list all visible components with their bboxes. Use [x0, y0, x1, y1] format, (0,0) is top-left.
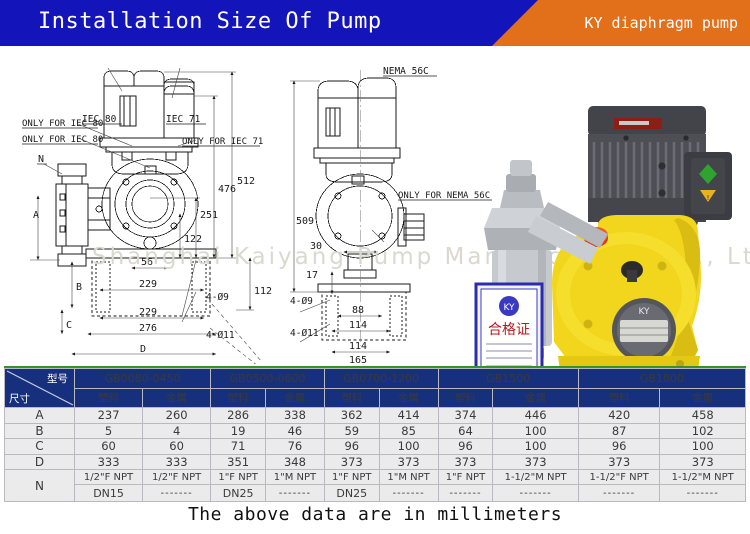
svg-text:88: 88 — [352, 305, 364, 316]
cell-d-9: 373 — [660, 454, 746, 470]
svg-text:165: 165 — [349, 355, 367, 364]
product-photo: ! KY — [448, 98, 740, 398]
cell-d-5: 373 — [379, 454, 438, 470]
cell-b-5: 85 — [379, 423, 438, 439]
svg-text:509: 509 — [296, 216, 314, 227]
cell-n-npt-6: 1"F NPT — [438, 470, 493, 485]
table-row-n-dn: DN15 ------- DN25 ------- DN25 ------- -… — [5, 485, 746, 502]
svg-text:276: 276 — [139, 323, 157, 334]
cell-c-5: 100 — [379, 439, 438, 455]
model-group-2: GB0700-1200 — [324, 369, 438, 389]
cell-a-5: 414 — [379, 408, 438, 424]
cell-n-dn-0: DN15 — [75, 485, 143, 502]
svg-text:112: 112 — [254, 286, 272, 297]
material-1-1: 金属 — [266, 388, 325, 408]
cell-c-3: 76 — [266, 439, 325, 455]
row-label-d: D — [5, 454, 75, 470]
material-0-1: 金属 — [143, 388, 211, 408]
material-2-0: 塑料 — [324, 388, 379, 408]
page-title: Installation Size Of Pump — [38, 9, 382, 34]
cell-c-2: 71 — [211, 439, 266, 455]
cell-n-npt-5: 1"M NPT — [379, 470, 438, 485]
svg-text:NEMA 56C: NEMA 56C — [383, 66, 429, 77]
corner-model-label: 型号 — [47, 371, 68, 386]
model-group-4: GB1800 — [578, 369, 745, 389]
cell-c-8: 96 — [578, 439, 660, 455]
cell-d-2: 351 — [211, 454, 266, 470]
cell-a-2: 286 — [211, 408, 266, 424]
product-spec-page: Installation Size Of Pump KY diaphragm p… — [0, 0, 750, 534]
cell-n-npt-8: 1-1/2"F NPT — [578, 470, 660, 485]
cell-d-4: 373 — [324, 454, 379, 470]
cell-b-7: 100 — [493, 423, 578, 439]
cell-d-7: 373 — [493, 454, 578, 470]
material-3-1: 金属 — [493, 388, 578, 408]
material-1-0: 塑料 — [211, 388, 266, 408]
svg-text:B: B — [76, 282, 82, 293]
cell-n-dn-2: DN25 — [211, 485, 266, 502]
svg-text:ONLY FOR IEC 80: ONLY FOR IEC 80 — [22, 119, 103, 129]
svg-text:IEC 71: IEC 71 — [166, 114, 201, 125]
cell-d-8: 373 — [578, 454, 660, 470]
material-4-0: 塑料 — [578, 388, 660, 408]
cell-d-6: 373 — [438, 454, 493, 470]
cell-c-7: 100 — [493, 439, 578, 455]
cell-n-npt-2: 1"F NPT — [211, 470, 266, 485]
cell-n-npt-1: 1/2"F NPT — [143, 470, 211, 485]
table-row: C 60 60 71 76 96 100 96 100 96 100 — [5, 439, 746, 455]
cell-b-8: 87 — [578, 423, 660, 439]
cell-b-9: 102 — [660, 423, 746, 439]
svg-text:56: 56 — [141, 257, 153, 268]
svg-text:!: ! — [706, 194, 710, 202]
svg-text:114: 114 — [349, 320, 367, 331]
cell-a-7: 446 — [493, 408, 578, 424]
cell-c-9: 100 — [660, 439, 746, 455]
svg-text:合格证: 合格证 — [488, 322, 530, 338]
cell-d-1: 333 — [143, 454, 211, 470]
cell-c-6: 96 — [438, 439, 493, 455]
svg-text:229: 229 — [139, 279, 157, 290]
table-body: A 237 260 286 338 362 414 374 446 420 45… — [5, 408, 746, 502]
material-3-0: 塑料 — [438, 388, 493, 408]
svg-text:A: A — [33, 210, 39, 221]
table-row-n-npt: N 1/2"F NPT 1/2"F NPT 1"F NPT 1"M NPT 1"… — [5, 470, 746, 485]
svg-text:30: 30 — [310, 241, 322, 252]
model-header-row: 型号 尺寸 GB0080-0450 GB0500-0600 GB0700-120… — [5, 369, 746, 389]
cell-n-dn-9: ------- — [660, 485, 746, 502]
cell-b-4: 59 — [324, 423, 379, 439]
row-label-n: N — [5, 470, 75, 502]
svg-text:4-Ø11: 4-Ø11 — [290, 328, 319, 339]
cell-a-1: 260 — [143, 408, 211, 424]
svg-text:D: D — [140, 344, 146, 355]
cell-b-3: 46 — [266, 423, 325, 439]
cell-n-dn-5: ------- — [379, 485, 438, 502]
svg-text:251: 251 — [200, 210, 218, 221]
svg-text:17: 17 — [306, 270, 318, 281]
corner-header: 型号 尺寸 — [5, 369, 75, 408]
cell-n-npt-7: 1-1/2"M NPT — [493, 470, 578, 485]
product-badge: KY diaphragm pump — [584, 14, 738, 32]
cell-n-dn-3: ------- — [266, 485, 325, 502]
svg-text:4-Ø11: 4-Ø11 — [206, 330, 235, 341]
cell-n-dn-8: ------- — [578, 485, 660, 502]
corner-size-label: 尺寸 — [9, 391, 30, 406]
cell-d-3: 348 — [266, 454, 325, 470]
svg-text:512: 512 — [237, 176, 255, 187]
model-group-1: GB0500-0600 — [211, 369, 325, 389]
table-head: 型号 尺寸 GB0080-0450 GB0500-0600 GB0700-120… — [5, 369, 746, 408]
cell-b-1: 4 — [143, 423, 211, 439]
svg-text:4-Ø9: 4-Ø9 — [290, 296, 313, 307]
svg-text:ONLY FOR IEC 71: ONLY FOR IEC 71 — [182, 137, 263, 147]
row-label-b: B — [5, 423, 75, 439]
material-2-1: 金属 — [379, 388, 438, 408]
page-header: Installation Size Of Pump KY diaphragm p… — [0, 0, 750, 46]
table-row: D 333 333 351 348 373 373 373 373 373 37… — [5, 454, 746, 470]
table-row: B 5 4 19 46 59 85 64 100 87 102 — [5, 423, 746, 439]
cell-a-3: 338 — [266, 408, 325, 424]
svg-text:4-Ø9: 4-Ø9 — [206, 292, 229, 303]
model-group-0: GB0080-0450 — [75, 369, 211, 389]
cell-c-1: 60 — [143, 439, 211, 455]
cell-n-dn-4: DN25 — [324, 485, 379, 502]
cell-n-npt-0: 1/2"F NPT — [75, 470, 143, 485]
cell-n-dn-1: ------- — [143, 485, 211, 502]
cell-a-0: 237 — [75, 408, 143, 424]
model-group-3: GB1500 — [438, 369, 578, 389]
cell-n-dn-7: ------- — [493, 485, 578, 502]
svg-text:114: 114 — [349, 341, 367, 352]
material-header-row: 塑料 金属 塑料 金属 塑料 金属 塑料 金属 塑料 金属 — [5, 388, 746, 408]
cell-n-npt-9: 1-1/2"M NPT — [660, 470, 746, 485]
table-row: A 237 260 286 338 362 414 374 446 420 45… — [5, 408, 746, 424]
cell-a-4: 362 — [324, 408, 379, 424]
material-0-0: 塑料 — [75, 388, 143, 408]
svg-text:ONLY FOR IEC 80: ONLY FOR IEC 80 — [22, 135, 103, 145]
cell-a-6: 374 — [438, 408, 493, 424]
svg-text:KY: KY — [638, 307, 650, 317]
cell-n-npt-3: 1"M NPT — [266, 470, 325, 485]
cell-c-4: 96 — [324, 439, 379, 455]
units-note: The above data are in millimeters — [0, 504, 750, 525]
specification-table: 型号 尺寸 GB0080-0450 GB0500-0600 GB0700-120… — [4, 366, 746, 502]
svg-text:C: C — [66, 320, 72, 331]
material-4-1: 金属 — [660, 388, 746, 408]
cell-b-2: 19 — [211, 423, 266, 439]
svg-text:KY: KY — [503, 303, 515, 313]
cell-n-dn-6: ------- — [438, 485, 493, 502]
svg-text:N: N — [38, 154, 44, 165]
cell-b-6: 64 — [438, 423, 493, 439]
svg-text:476: 476 — [218, 184, 236, 195]
svg-text:122: 122 — [184, 234, 202, 245]
svg-text:229: 229 — [139, 307, 157, 318]
technical-drawings: IEC 80 IEC 71 ONLY FOR IEC 80 ONLY FOR I… — [0, 46, 750, 364]
row-label-c: C — [5, 439, 75, 455]
cell-a-9: 458 — [660, 408, 746, 424]
row-label-a: A — [5, 408, 75, 424]
cell-b-0: 5 — [75, 423, 143, 439]
cell-c-0: 60 — [75, 439, 143, 455]
cell-d-0: 333 — [75, 454, 143, 470]
cell-a-8: 420 — [578, 408, 660, 424]
cell-n-npt-4: 1"F NPT — [324, 470, 379, 485]
